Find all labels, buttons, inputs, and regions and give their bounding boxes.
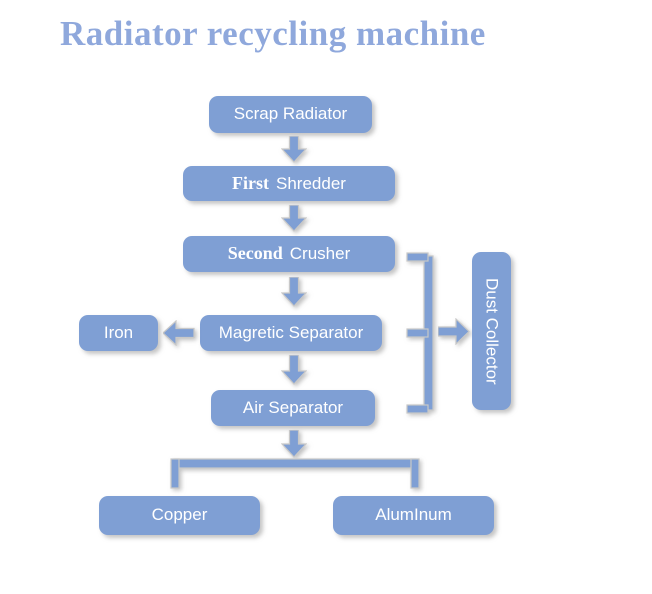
arrow-magretic-separator-to-iron-icon	[163, 320, 195, 346]
page-title: Radiator recycling machine	[60, 14, 600, 54]
node-scrap-radiator-label: Scrap Radiator	[234, 105, 347, 124]
arrow-manifold-to-dust-collector-icon	[438, 318, 470, 345]
arrow-magretic-separator-to-air-separator-icon	[281, 355, 307, 385]
product-splitter-bracket	[170, 458, 420, 490]
arrow-first-shredder-to-second-crusher-icon	[281, 205, 307, 232]
arrow-air-separator-to-splitter-icon	[281, 430, 307, 458]
node-scrap-radiator[interactable]: Scrap Radiator	[209, 96, 372, 133]
node-second-crusher-word-second: Second	[228, 243, 283, 263]
node-first-shredder[interactable]: FirstShredder	[183, 166, 395, 201]
node-first-shredder-word-first: First	[232, 173, 269, 193]
dust-manifold-bracket	[406, 252, 438, 414]
node-air-separator[interactable]: Air Separator	[211, 390, 375, 426]
node-copper-label: Copper	[152, 506, 208, 525]
node-iron[interactable]: Iron	[79, 315, 158, 351]
arrow-second-crusher-to-magretic-separator-icon	[281, 277, 307, 307]
node-air-separator-label: Air Separator	[243, 399, 343, 418]
node-aluminum[interactable]: AlumInum	[333, 496, 494, 535]
node-copper[interactable]: Copper	[99, 496, 260, 535]
node-iron-label: Iron	[104, 324, 133, 343]
arrow-scrap-to-first-shredder-icon	[281, 136, 307, 163]
node-magretic-separator[interactable]: Magretic Separator	[200, 315, 382, 351]
node-dust-collector[interactable]: Dust Collector	[472, 252, 511, 410]
node-second-crusher-label: SecondCrusher	[228, 244, 350, 264]
node-aluminum-label: AlumInum	[375, 506, 452, 525]
node-second-crusher-word-crusher: Crusher	[290, 244, 350, 263]
node-first-shredder-label: FirstShredder	[232, 174, 346, 194]
flowchart-canvas: Radiator recycling machine Scrap Radiato…	[0, 0, 652, 594]
node-dust-collector-label: Dust Collector	[482, 278, 501, 385]
node-magretic-separator-label: Magretic Separator	[219, 324, 364, 343]
node-first-shredder-word-shredder: Shredder	[276, 174, 346, 193]
node-second-crusher[interactable]: SecondCrusher	[183, 236, 395, 272]
